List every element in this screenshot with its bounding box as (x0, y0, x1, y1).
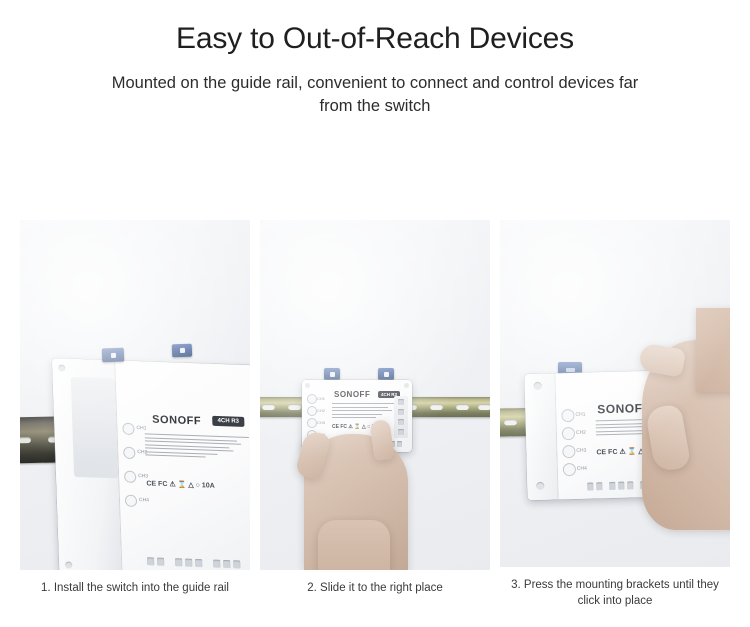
terminal-port (213, 560, 220, 568)
sonoff-switch: SONOFF 4CH R3 CE FC ⚠ ⌛ △ ○ 10A CH1 (52, 358, 250, 570)
sonoff-brand-logo: SONOFF (152, 414, 201, 428)
switch-screw (58, 364, 65, 371)
step-1-caption: 1. Install the switch into the guide rai… (20, 580, 250, 597)
step-2-caption: 2. Slide it to the right place (260, 580, 490, 597)
switch-screw (305, 383, 310, 388)
led-label: CH2 (576, 430, 586, 436)
terminal-port (223, 560, 230, 568)
switch-screw (536, 482, 544, 490)
step-2-photo: SONOFF 4CH R3 CE FC ⚠ ⌛ △ ○ 10A CH1 CH2 … (260, 220, 490, 570)
step-3-photo: CH1 CH2 CH3 CH4 SONOFF 4CH R3 CE FC ⚠ ⌛ … (500, 220, 730, 567)
status-led (307, 418, 317, 428)
step-1: SONOFF 4CH R3 CE FC ⚠ ⌛ △ ○ 10A CH1 (20, 220, 250, 610)
terminal-port (627, 481, 633, 489)
led-label: CH4 (139, 497, 149, 503)
switch-screw (534, 382, 542, 390)
wrist (696, 308, 730, 392)
status-led (307, 406, 317, 416)
switch-model-badge: 4CH R3 (212, 416, 244, 427)
led-label: CH1 (136, 425, 146, 431)
terminal-port (398, 409, 404, 415)
wrist (318, 520, 390, 570)
status-led (562, 427, 575, 440)
din-rail-slot (478, 404, 490, 410)
status-led (125, 495, 137, 507)
switch-front-face: SONOFF 4CH R3 CE FC ⚠ ⌛ △ ○ 10A CH1 (114, 360, 250, 570)
status-led (561, 409, 574, 422)
terminal-port (233, 560, 240, 568)
step-1-photo: SONOFF 4CH R3 CE FC ⚠ ⌛ △ ○ 10A CH1 (20, 220, 250, 570)
led-label: CH2 (137, 449, 147, 455)
status-led (124, 471, 136, 483)
step-3: CH1 CH2 CH3 CH4 SONOFF 4CH R3 CE FC ⚠ ⌛ … (500, 220, 730, 610)
terminal-port (618, 482, 624, 490)
led-label: CH2 (317, 408, 325, 413)
sonoff-brand-logo: SONOFF (334, 390, 370, 399)
terminal-port (185, 559, 192, 567)
mounting-bracket (378, 368, 394, 380)
bracket-slot (179, 348, 184, 353)
status-led (123, 447, 135, 459)
terminal-port (398, 419, 404, 425)
page-header: Easy to Out-of-Reach Devices Mounted on … (0, 0, 750, 119)
installation-steps: SONOFF 4CH R3 CE FC ⚠ ⌛ △ ○ 10A CH1 (20, 220, 730, 610)
terminal-port (147, 557, 154, 565)
bracket-slot (110, 352, 115, 357)
switch-screw (65, 561, 72, 568)
page-subtitle: Mounted on the guide rail, convenient to… (95, 58, 655, 120)
certification-marks: CE FC ⚠ ⌛ △ ○ 10A (146, 479, 215, 489)
mounting-bracket (102, 348, 124, 363)
switch-screw (404, 383, 409, 388)
mounting-bracket (172, 344, 192, 358)
led-label: CH3 (317, 420, 325, 425)
switch-spec-text (332, 403, 398, 421)
mounting-bracket (324, 368, 340, 380)
din-rail-slot (262, 404, 275, 410)
din-rail-slot (456, 404, 469, 410)
step-3-caption: 3. Press the mounting brackets until the… (500, 577, 730, 610)
led-label: CH4 (577, 466, 587, 472)
step-2: SONOFF 4CH R3 CE FC ⚠ ⌛ △ ○ 10A CH1 CH2 … (260, 220, 490, 610)
bracket-slot (566, 368, 575, 372)
switch-spec-text (145, 433, 250, 461)
bracket-slot (384, 372, 389, 377)
din-rail-slot (504, 419, 517, 425)
din-rail-slot (288, 404, 301, 410)
led-label: CH1 (575, 412, 585, 418)
status-led (122, 423, 134, 435)
din-rail-slot (430, 404, 443, 410)
switch-mounting-flange (524, 373, 558, 500)
terminal-port (195, 559, 202, 567)
terminal-port (398, 429, 404, 435)
bracket-slot (330, 372, 335, 377)
terminal-port (157, 558, 164, 566)
status-led (563, 463, 576, 476)
status-led (307, 394, 317, 404)
led-label: CH3 (576, 448, 586, 454)
terminal-port (175, 558, 182, 566)
terminal-port (596, 482, 602, 490)
terminal-port (587, 482, 593, 490)
switch-clip-recess (71, 377, 119, 478)
terminal-port (397, 441, 402, 447)
status-led (562, 445, 575, 458)
led-label: CH1 (317, 396, 325, 401)
terminal-block (394, 396, 408, 438)
led-label: CH3 (138, 473, 148, 479)
terminal-port (398, 399, 404, 405)
page-title: Easy to Out-of-Reach Devices (0, 0, 750, 58)
terminal-port (609, 482, 615, 490)
din-rail-slot (20, 437, 31, 443)
